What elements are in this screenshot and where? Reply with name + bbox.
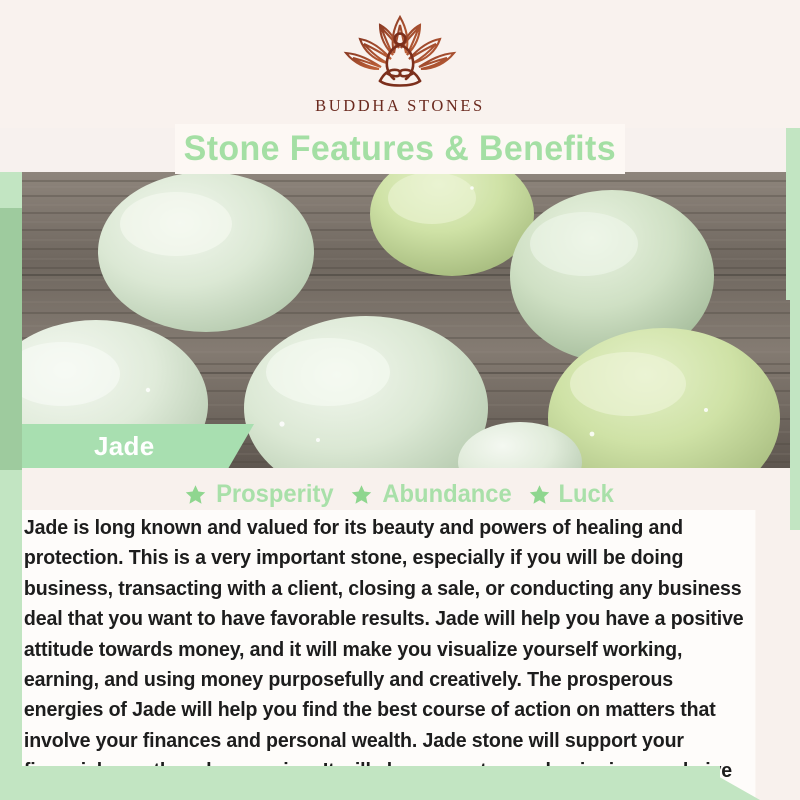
brand-header: BUDDHA STONES (0, 0, 800, 128)
keyword-list: Prosperity Abundance Luck (0, 480, 800, 509)
decorative-frame-left-lower (0, 470, 22, 800)
content-panel: Prosperity Abundance Luck (0, 468, 800, 800)
keyword-label: Prosperity (216, 480, 333, 509)
title-banner: Stone Features & Benefits (175, 124, 625, 174)
decorative-frame-left-upper (0, 208, 22, 470)
star-icon (529, 484, 550, 505)
description-block: Jade is long known and valued for its be… (22, 510, 755, 800)
decorative-frame-left-notch (0, 172, 22, 212)
lotus-meditation-icon (336, 13, 464, 91)
keyword-label: Luck (558, 480, 613, 509)
star-icon (185, 484, 206, 505)
stone-name: Jade (94, 431, 154, 462)
brand-wordmark: BUDDHA STONES (315, 96, 485, 116)
keyword-label: Abundance (382, 480, 511, 509)
hero-photo (0, 172, 800, 468)
star-icon (351, 484, 372, 505)
keyword-item-prosperity: Prosperity (185, 480, 337, 509)
description-paragraph: Jade is long known and valued for its be… (24, 513, 754, 800)
poster-root: BUDDHA STONES Stone Features & Benefits (0, 0, 800, 800)
decorative-frame-right-lower (790, 300, 800, 530)
keyword-item-abundance: Abundance (351, 480, 515, 509)
keyword-item-luck: Luck (529, 480, 615, 509)
stone-name-banner: Jade (22, 424, 254, 468)
decorative-frame-bottom (0, 766, 720, 800)
page-title: Stone Features & Benefits (184, 129, 616, 169)
